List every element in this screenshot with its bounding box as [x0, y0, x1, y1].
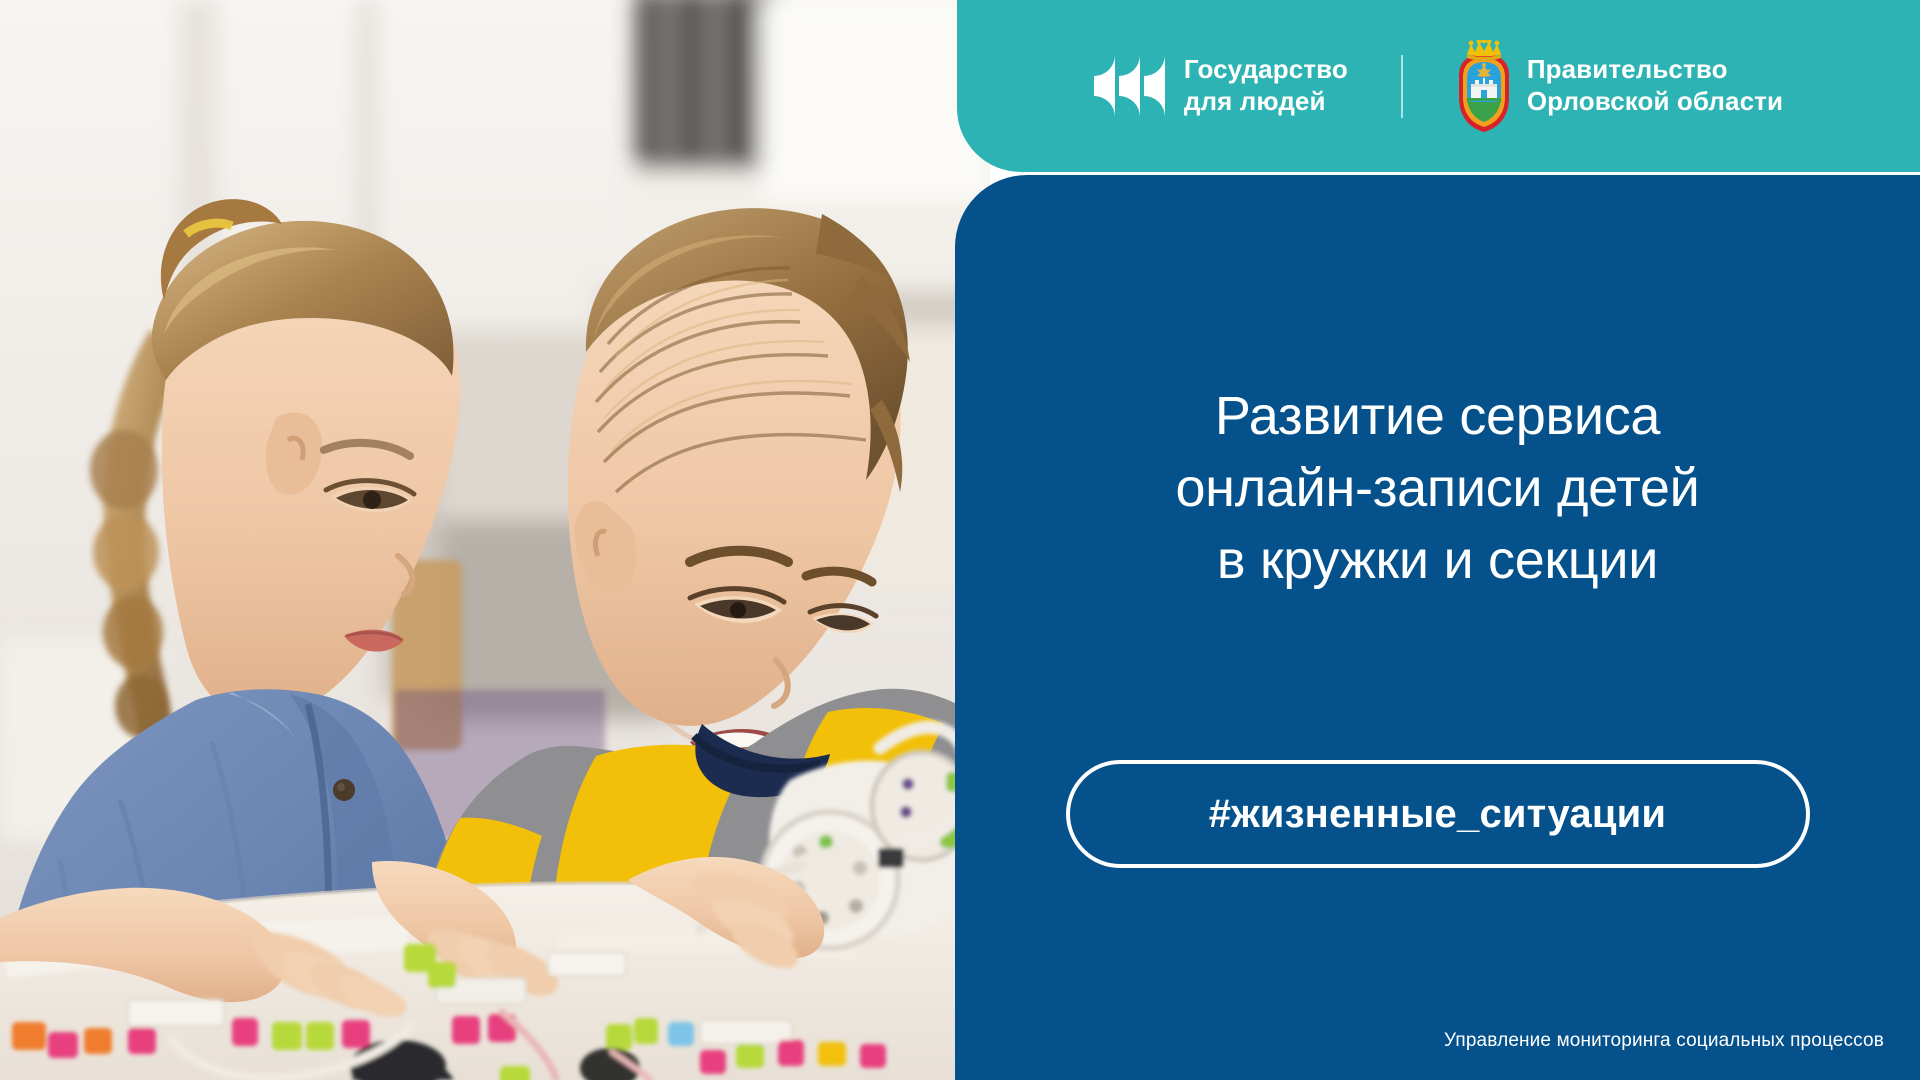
poster-root: Государство для людей [0, 0, 1920, 1080]
title-line-2: онлайн-записи детей [955, 452, 1920, 524]
gos-logo-line2: для людей [1184, 86, 1348, 118]
hashtag-button[interactable]: #жизненные_ситуации [1066, 760, 1810, 868]
logo-row: Государство для людей [957, 0, 1920, 172]
gos-logo-text: Государство для людей [1184, 54, 1348, 117]
orel-oblast-coat-of-arms-icon [1457, 40, 1511, 132]
hashtag-area: #жизненные_ситуации [955, 760, 1920, 868]
gov-logo-line1: Правительство [1527, 54, 1783, 86]
gos-logo-group: Государство для людей [1094, 54, 1348, 117]
title-line-1: Развитие сервиса [955, 380, 1920, 452]
title-line-3: в кружки и секции [955, 524, 1920, 596]
classroom-photo [0, 0, 990, 1080]
gos-logo-line1: Государство [1184, 54, 1348, 86]
gov-logo-line2: Орловской области [1527, 86, 1783, 118]
header-panel: Государство для людей [957, 0, 1920, 172]
footer-credit: Управление мониторинга социальных процес… [1444, 1030, 1884, 1052]
page-title: Развитие сервиса онлайн-записи детей в к… [955, 380, 1920, 596]
vertical-divider [1401, 55, 1403, 118]
content-panel [955, 175, 1920, 1080]
gos-dlya-lyudey-logo-icon [1094, 55, 1165, 117]
gov-logo-group: Правительство Орловской области [1457, 40, 1783, 132]
gov-logo-text: Правительство Орловской области [1527, 54, 1783, 117]
